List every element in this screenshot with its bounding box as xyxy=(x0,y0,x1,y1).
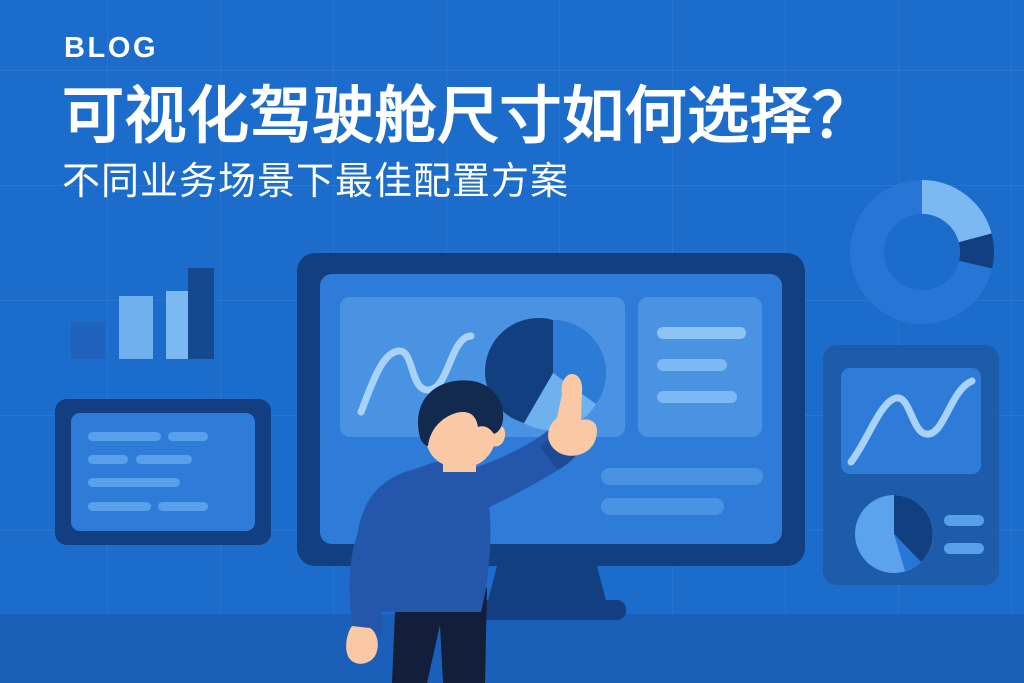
panel-legend-line-1 xyxy=(944,515,984,526)
page-title: 可视化驾驶舱尺寸如何选择？ xyxy=(62,85,962,148)
monitor-stand-base xyxy=(468,600,626,620)
tablet-line-4b xyxy=(158,502,208,511)
dashboard-panel-decoration xyxy=(823,345,999,585)
screen-card-line-3 xyxy=(657,391,737,403)
donut-chart-decoration xyxy=(867,197,977,307)
screen-wide-bar-1 xyxy=(601,468,763,485)
panel-legend-line-2 xyxy=(944,543,984,554)
headline-block: BLOG 可视化驾驶舱尺寸如何选择？ 不同业务场景下最佳配置方案 xyxy=(62,34,962,204)
bar-1 xyxy=(71,322,105,359)
person-hand-left xyxy=(346,626,378,664)
tablet-line-3 xyxy=(88,478,180,487)
tablet-line-2a xyxy=(88,455,128,464)
bar-chart-decoration xyxy=(71,268,214,359)
tablet-line-1b xyxy=(168,432,208,441)
tablet-card-decoration xyxy=(55,399,271,545)
tablet-line-2b xyxy=(136,455,192,464)
tablet-screen xyxy=(71,413,255,531)
screen-card-line-2 xyxy=(657,359,727,371)
bar-2 xyxy=(119,296,153,359)
screen-wide-bar-2 xyxy=(601,498,724,515)
kicker-label: BLOG xyxy=(64,34,962,63)
page-subtitle: 不同业务场景下最佳配置方案 xyxy=(62,162,962,204)
donut-hole xyxy=(884,214,960,290)
bar-4 xyxy=(188,268,214,359)
screen-card-line-1 xyxy=(657,327,746,339)
panel-pie-chart xyxy=(855,495,933,573)
monitor-stand-neck xyxy=(487,566,607,604)
tablet-line-4a xyxy=(88,502,151,511)
blog-cover-banner: BLOG 可视化驾驶舱尺寸如何选择？ 不同业务场景下最佳配置方案 xyxy=(0,0,1024,683)
tablet-line-1a xyxy=(88,432,161,441)
